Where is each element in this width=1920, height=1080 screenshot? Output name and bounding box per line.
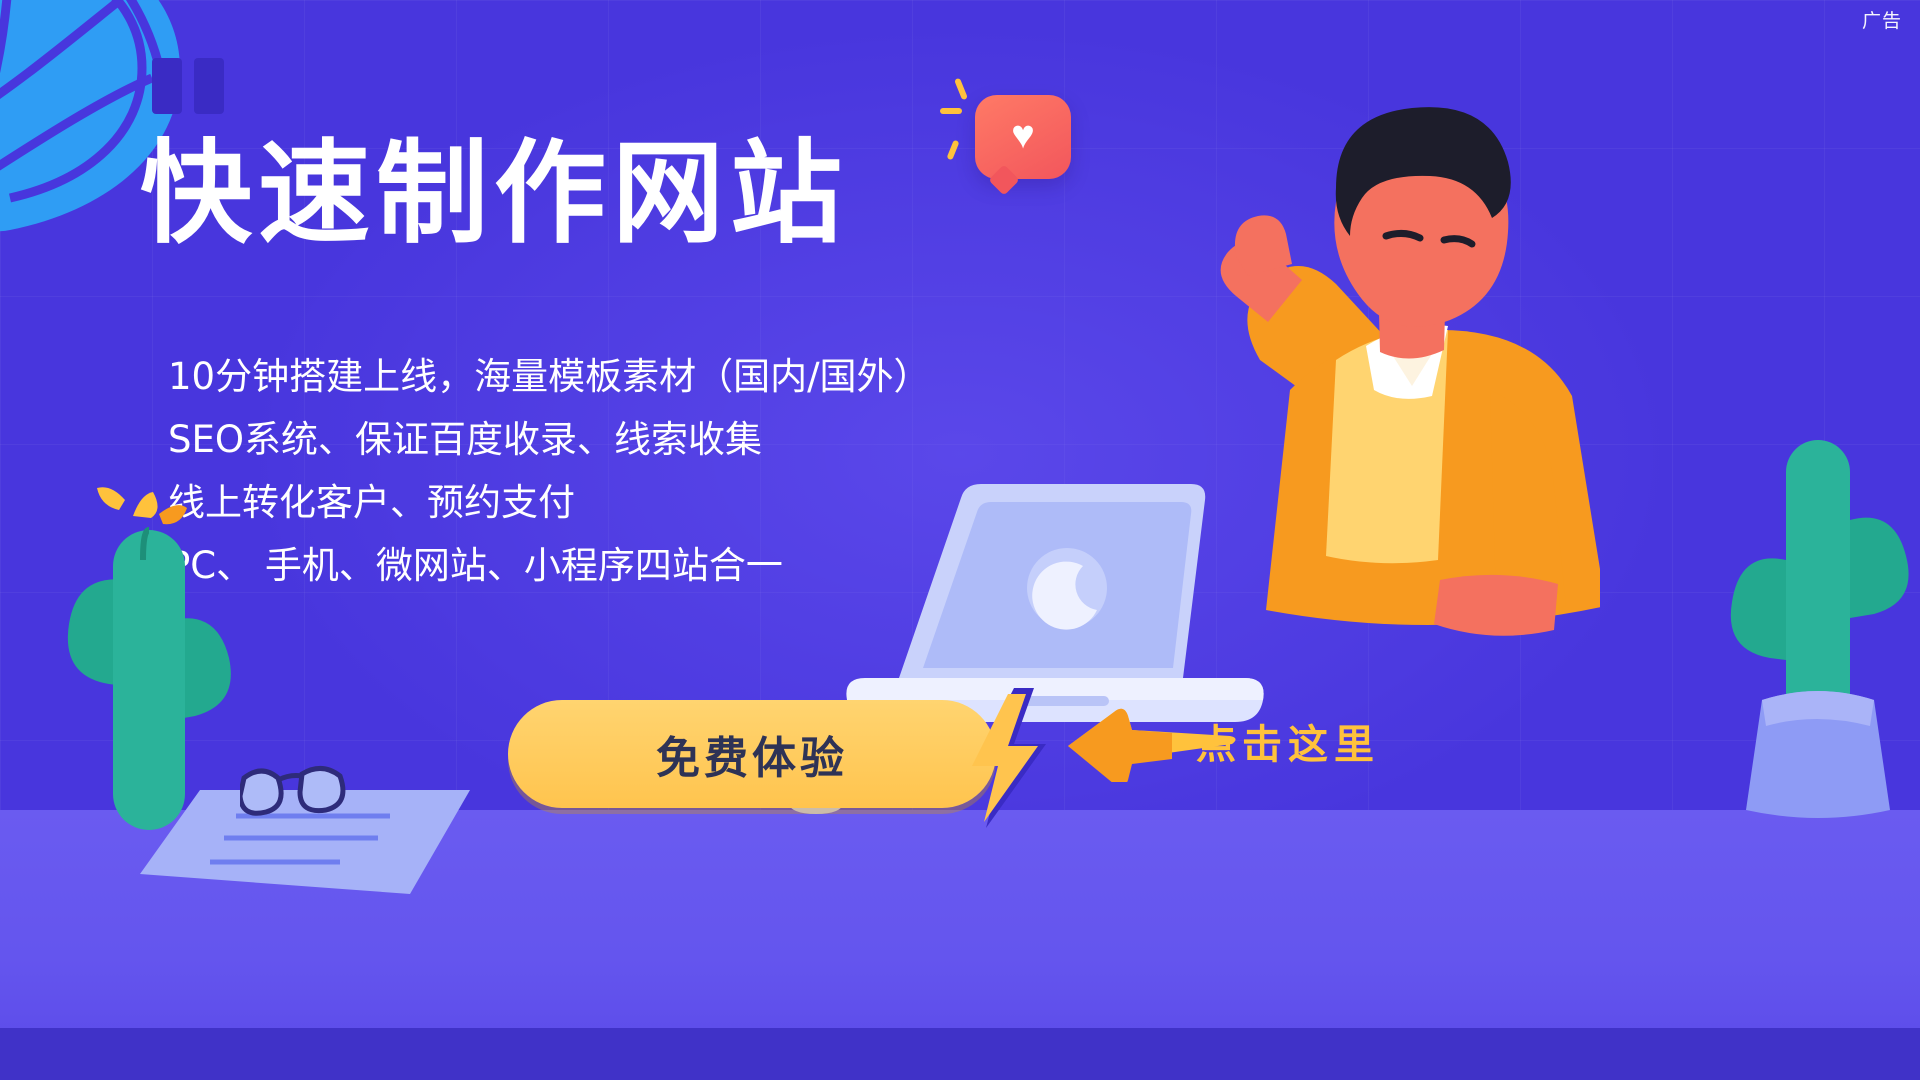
heart-notification-bubble: ♥	[975, 95, 1071, 179]
list-item: 10分钟搭建上线，海量模板素材（国内/国外）	[168, 345, 988, 408]
ad-banner: 广告 快速制作网站 10分钟搭建上线，海量模板素材（国内/国外） SEO系统、保…	[0, 0, 1920, 1080]
cactus-right-icon	[1700, 400, 1920, 820]
list-item: SEO系统、保证百度收录、线索收集	[168, 408, 988, 471]
sparkle-icon	[940, 108, 962, 114]
page-title: 快速制作网站	[140, 138, 848, 250]
quote-mark-icon	[152, 58, 230, 118]
glasses-icon	[240, 760, 370, 830]
floor-strip	[0, 1028, 1920, 1080]
lightning-bolt-icon	[968, 688, 1052, 828]
ad-label: 广告	[1862, 6, 1902, 33]
free-trial-button[interactable]: 免费体验	[508, 700, 996, 808]
heart-icon: ♥	[1011, 115, 1035, 155]
free-trial-label: 免费体验	[656, 722, 848, 786]
cactus-left-icon	[55, 470, 255, 830]
click-here-hint: 点击这里	[1196, 712, 1380, 770]
